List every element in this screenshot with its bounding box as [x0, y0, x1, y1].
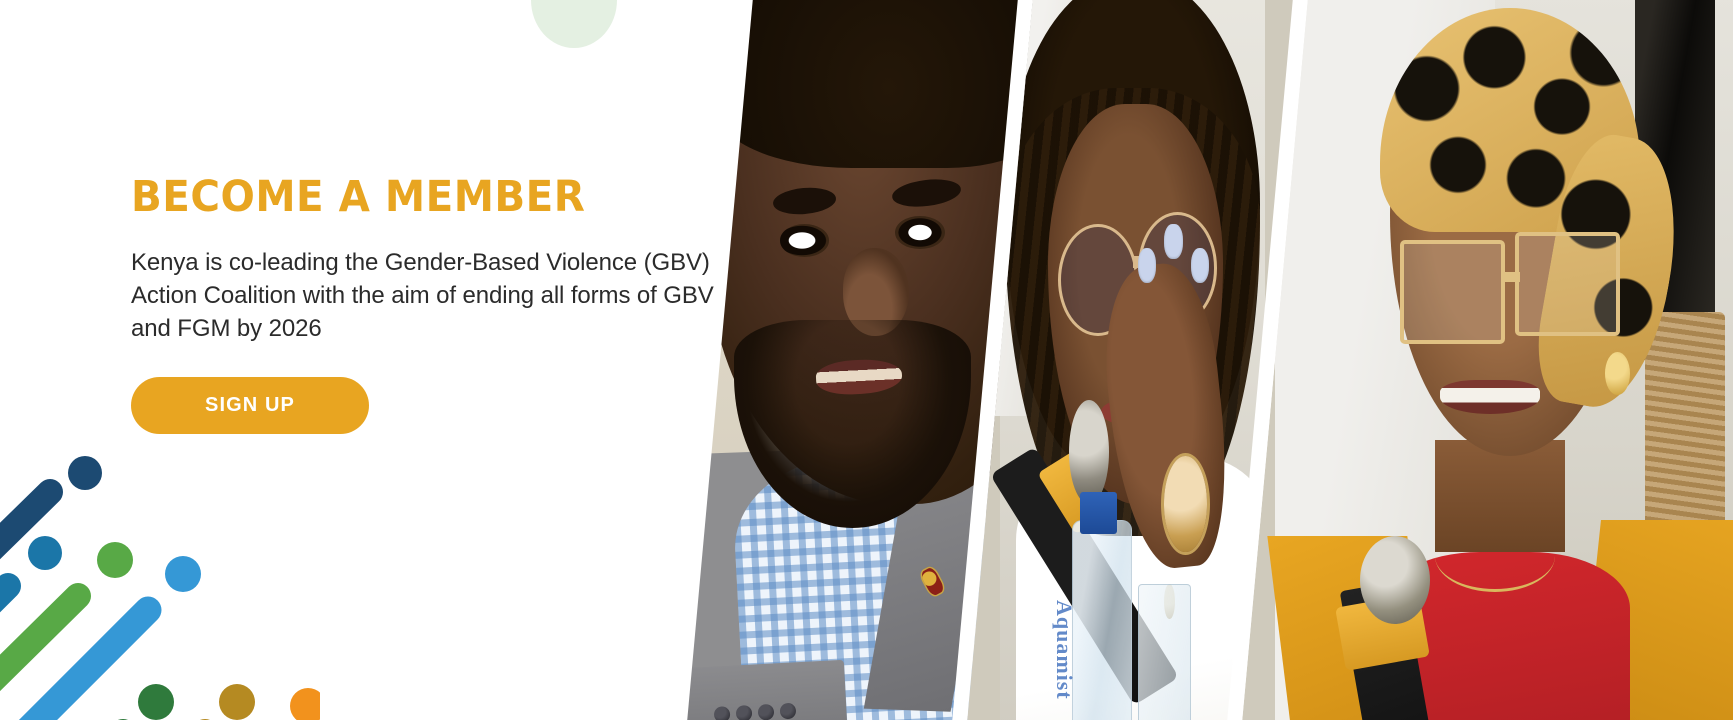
pale-green-circle — [531, 0, 617, 48]
sign-up-button[interactable]: SIGN UP — [131, 377, 369, 434]
banner-copy-block: BECOME A MEMBER Kenya is co-leading the … — [131, 176, 751, 434]
photo-collage: Aquamist — [660, 0, 1733, 720]
page-title: BECOME A MEMBER — [131, 176, 714, 219]
water-bottle-label: Aquamist — [964, 600, 1077, 650]
become-a-member-banner: BECOME A MEMBER Kenya is co-leading the … — [0, 0, 1733, 720]
diagonal-dashes-logo — [0, 450, 320, 720]
photo-panel-speaker-woman-headwrap — [1239, 0, 1733, 720]
banner-description: Kenya is co-leading the Gender-Based Vio… — [131, 247, 736, 346]
